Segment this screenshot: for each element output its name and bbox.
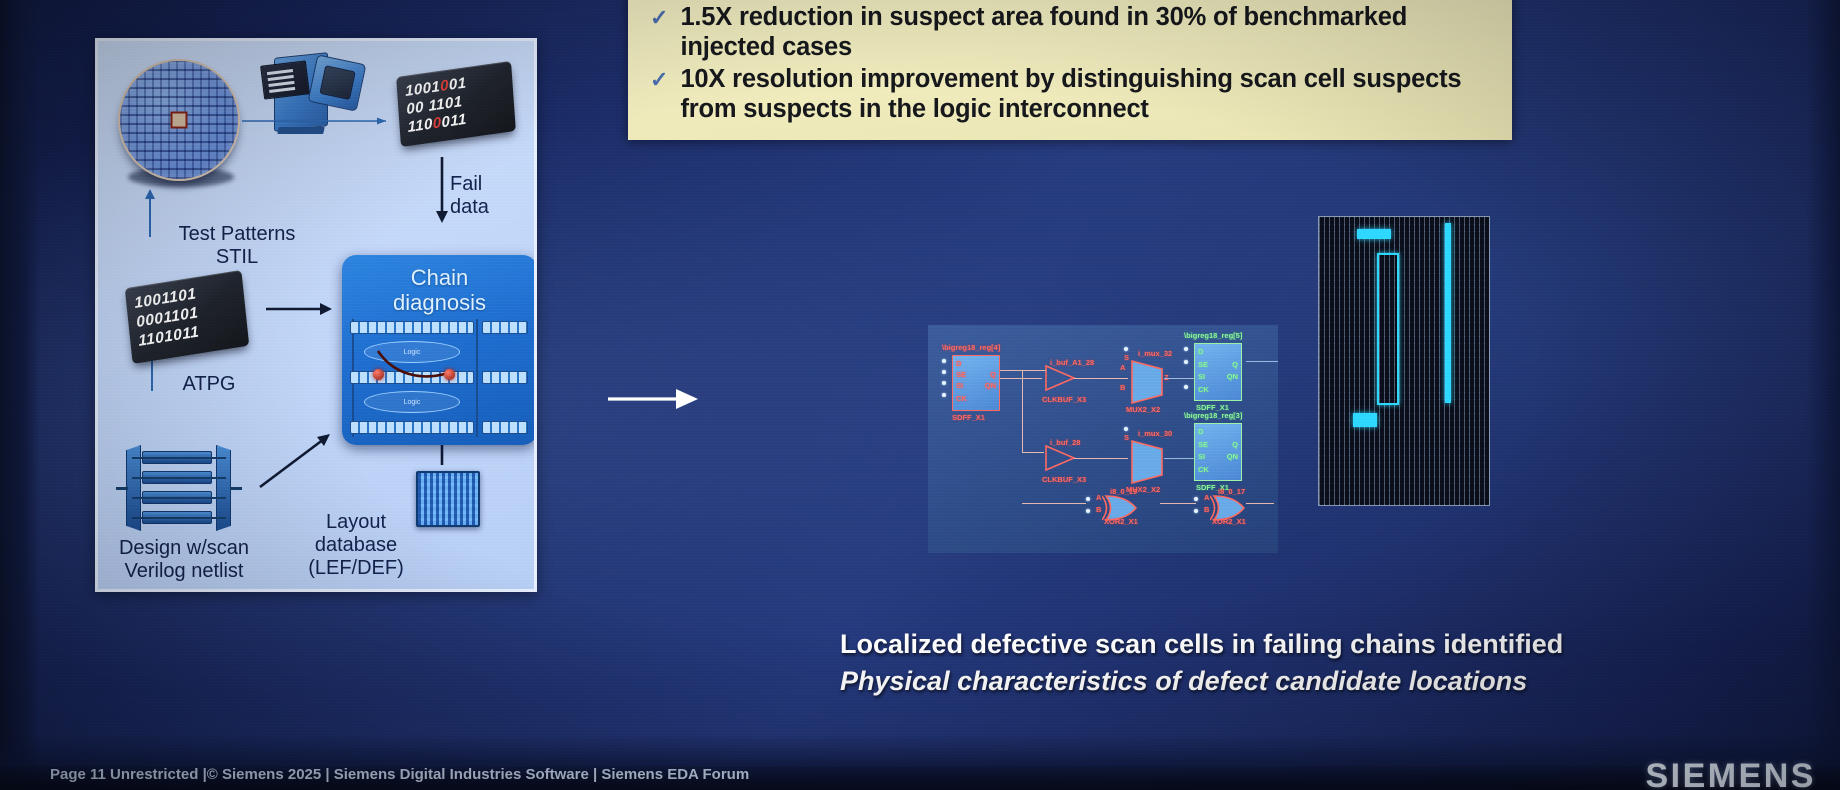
schematic-instance-name-2: \bigreg18_reg[3] (1184, 411, 1242, 420)
schematic-ff-2: D SE SI CK Q QN (1194, 423, 1242, 481)
label-layout-database: Layout database (LEF/DEF) (294, 511, 418, 580)
callout-bullet-2-text: 10X resolution improvement by distinguis… (680, 64, 1494, 124)
schematic-instance-name-1: \bigreg18_reg[5] (1184, 331, 1242, 340)
diagnosis-flow-panel: 1001001 00 1101 1100011 1001101 0001101 … (95, 38, 537, 592)
schematic-ff-0: D SE SI CK Q QN (952, 355, 1000, 411)
chain-diagnosis-box: Chain diagnosis Logic Logic (342, 255, 537, 445)
wafer-defect-die (171, 112, 188, 129)
pin-SI: SI (956, 381, 963, 390)
projection-edge-right (1806, 0, 1840, 790)
layout-highlight-top (1357, 229, 1391, 239)
check-icon: ✓ (650, 64, 668, 95)
layout-highlight-cell (1353, 413, 1377, 427)
schematic-cell-1: CLKBUF_X3 (1042, 475, 1086, 484)
scan-chain-artwork: Logic Logic (350, 319, 529, 437)
pin-QN: QN (985, 381, 996, 390)
defect-marker-2 (444, 369, 455, 380)
siemens-logo: SIEMENS (1645, 757, 1816, 790)
layout-highlight-rail (1445, 223, 1451, 403)
callout-bullet-2: ✓ 10X resolution improvement by distingu… (650, 64, 1494, 124)
layout-database-icon (416, 471, 480, 527)
results-captions: Localized defective scan cells in failin… (840, 626, 1710, 700)
flow-to-results-arrow (608, 386, 700, 412)
callout-bullet-1: ✓ 1.5X reduction in suspect area found i… (650, 2, 1494, 62)
schematic-cell-5: XOR2_X1 (1212, 517, 1246, 526)
label-design-with-scan: Design w/scan Verilog netlist (106, 537, 262, 583)
schematic-instance-name-0: \bigreg18_reg[4] (942, 343, 1000, 352)
callout-bullet-1-text: 1.5X reduction in suspect area found in … (680, 2, 1494, 62)
benefits-callout-box: ✓ 1.5X reduction in suspect area found i… (628, 0, 1512, 140)
projection-edge-left (0, 0, 40, 790)
label-atpg: ATPG (164, 373, 254, 396)
fail-data-chip-icon: 1001001 00 1101 1100011 (396, 61, 516, 147)
schematic-cell-4: XOR2_X1 (1104, 517, 1138, 526)
label-fail-data: Fail data (450, 173, 520, 219)
pin-SE: SE (956, 370, 966, 379)
slide-photo-stage: ✓ 1.5X reduction in suspect area found i… (0, 0, 1840, 790)
ate-tester-icon (260, 47, 368, 139)
label-test-patterns: Test Patterns STIL (162, 223, 312, 269)
atpg-pattern-chip-icon: 1001101 0001101 1101011 (125, 270, 250, 364)
schematic-ff-1: D SE SI CK Q QN (1194, 343, 1242, 401)
gds-layout-thumbnail[interactable] (1318, 216, 1490, 506)
pin-CK: CK (956, 394, 967, 403)
check-icon: ✓ (650, 2, 668, 33)
chain-diagnosis-title: Chain diagnosis (342, 255, 537, 315)
caption-line-2: Physical characteristics of defect candi… (840, 663, 1710, 700)
layout-highlight-route (1377, 253, 1399, 405)
silicon-wafer-icon (118, 59, 240, 181)
schematic-cell-0: CLKBUF_X3 (1042, 395, 1086, 404)
netlist-schematic-viewer[interactable]: \bigreg18_reg[4] D SE SI CK Q QN SDFF_X1… (928, 325, 1278, 553)
schematic-cell-name-0: SDFF_X1 (952, 413, 985, 422)
design-with-scan-icon (116, 445, 244, 531)
pin-Q: Q (990, 370, 996, 379)
caption-line-1: Localized defective scan cells in failin… (840, 626, 1710, 663)
schematic-cell-2: MUX2_X2 (1126, 405, 1160, 414)
defect-marker-1 (373, 369, 384, 380)
footer-copyright: Page 11 Unrestricted |© Siemens 2025 | S… (50, 766, 749, 783)
pin-D: D (956, 359, 961, 368)
